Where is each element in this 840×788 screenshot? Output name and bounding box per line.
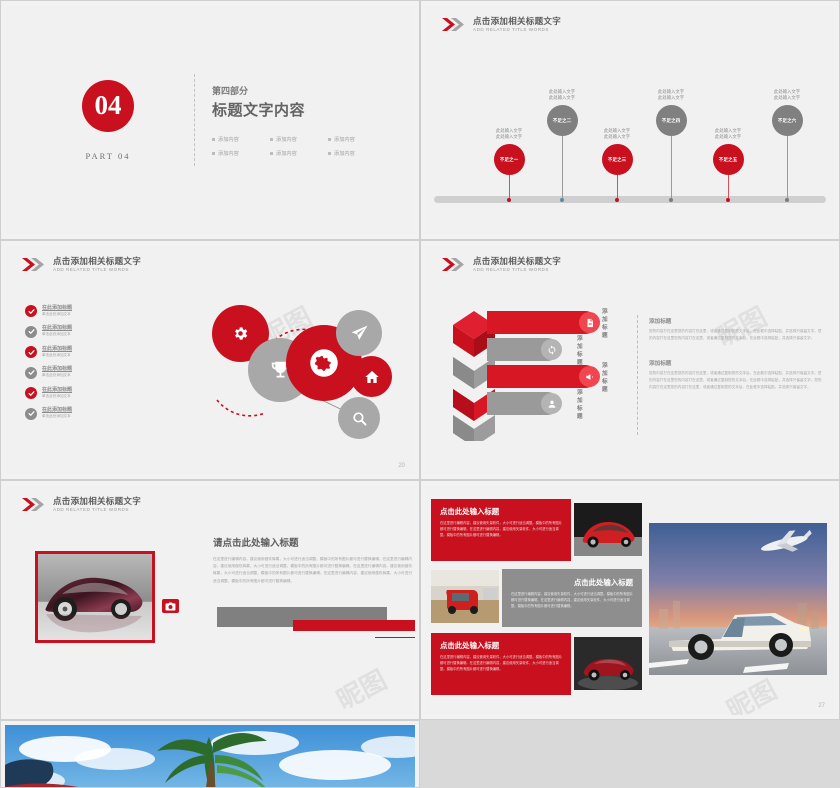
text-block: 添加标题 您的内容打在这里您的内容打在这里，或者通过复制您的文本后，在此框中选择… xyxy=(649,359,825,390)
send-icon xyxy=(350,324,369,343)
list-item-title: 在此添加标题 xyxy=(42,388,72,394)
text-block-list: 添加标题 您的内容打在这里您的内容打在这里，或者通过复制您的文本后，在此框中选择… xyxy=(649,317,825,408)
list-item-sub: 单击此处添加文本 xyxy=(42,313,72,317)
list-item-text: 在此添加标题单击此处添加文本 xyxy=(42,347,72,358)
slide-header-title-cn: 点击添加相关标题文字 xyxy=(53,257,141,266)
slide-header-title-en: ADD RELATED TITLE WORDS xyxy=(53,508,141,513)
list-item-sub: 单击此处添加文本 xyxy=(42,354,72,358)
slide-thumbnail-image-cards[interactable]: 昵图 点击此处输入标题 在这里进行编辑内容，建议使用矢量软件，大小可进行适当调整… xyxy=(420,480,840,720)
info-card-title: 点击此处输入标题 xyxy=(440,506,562,517)
slide-title: 请点击此处输入标题 xyxy=(213,535,415,549)
arrow-bar-label: 添加标题 xyxy=(577,334,583,366)
slide-header-text: 点击添加相关标题文字 ADD RELATED TITLE WORDS xyxy=(53,257,141,272)
list-item[interactable]: 添加内容 xyxy=(212,136,266,143)
text-block-heading: 添加标题 xyxy=(649,359,825,367)
section-number-block: 04 PART 04 xyxy=(38,80,178,161)
arrow-bar[interactable]: 添加标题 xyxy=(487,338,559,361)
slide-body: 在这里进行编辑内容，建议使用做玖辉果，大小可进行适当调整，模板中的所有图片都可进… xyxy=(213,556,415,585)
arrow-bar[interactable]: 添加标题 xyxy=(487,392,559,415)
document-icon xyxy=(579,312,600,333)
slide-thumbnail-grid: 04 PART 04 第四部分 标题文字内容 添加内容 添加内容 添加内容 添加… xyxy=(0,0,840,788)
slide-header-text: 点击添加相关标题文字 ADD RELATED TITLE WORDS xyxy=(473,257,561,272)
list-item[interactable]: 在此添加标题单击此处添加文本 xyxy=(25,367,72,379)
photo-palm-tree-blue-sky xyxy=(5,725,415,787)
slide-canvas: 点击添加相关标题文字 ADD RELATED TITLE WORDS 昵图 xyxy=(5,485,415,715)
timeline-caption-line: 此处输入文字 xyxy=(587,134,647,141)
square-bullet-icon xyxy=(270,138,273,141)
megaphone-icon xyxy=(579,366,600,387)
slide-header-title-cn: 点击添加相关标题文字 xyxy=(53,497,141,506)
list-item-text: 在此添加标题单击此处添加文本 xyxy=(42,306,72,317)
timeline-bubble[interactable]: 不足之三 xyxy=(602,144,633,175)
slide-thumbnail-partial-photo[interactable] xyxy=(0,720,420,788)
timeline-bubble[interactable]: 不足之二 xyxy=(547,105,578,136)
slide-header-text: 点击添加相关标题文字 ADD RELATED TITLE WORDS xyxy=(473,17,561,32)
page-number: 20 xyxy=(398,463,405,469)
red-accent-line xyxy=(375,637,415,638)
list-item-label: 添加内容 xyxy=(218,136,239,143)
slide-thumbnail-timeline[interactable]: 点击添加相关标题文字 ADD RELATED TITLE WORDS 不足之一 … xyxy=(420,0,840,240)
check-circle-icon xyxy=(25,305,37,317)
text-block-body: 您的内容打在这里您的内容打在这里，或者通过复制您的文本后，在此框中选择粘贴，并选… xyxy=(649,328,825,341)
list-item-text: 在此添加标题单击此处添加文本 xyxy=(42,326,72,337)
info-card-body: 在这里进行编辑内容，建议使用矢量软件，大小可进行适当调整。模板中的所有图片都可进… xyxy=(440,655,562,672)
list-item[interactable]: 在此添加标题单击此处添加文本 xyxy=(25,326,72,338)
list-item[interactable]: 在此添加标题单击此处添加文本 xyxy=(25,387,72,399)
slide-header: 点击添加相关标题文字 ADD RELATED TITLE WORDS xyxy=(22,497,141,512)
text-block-heading: 添加标题 xyxy=(649,317,825,325)
timeline-caption-line: 此处输入文字 xyxy=(757,95,817,102)
slide-canvas: 点击添加相关标题文字 ADD RELATED TITLE WORDS 昵图 在此… xyxy=(5,245,415,475)
bubble-search[interactable] xyxy=(338,397,380,439)
checklist: 在此添加标题单击此处添加文本 在此添加标题单击此处添加文本 在此添加标题单击此处… xyxy=(25,305,72,420)
timeline-caption: 此处输入文字 此处输入文字 xyxy=(587,128,647,141)
camera-icon[interactable] xyxy=(162,599,179,613)
square-bullet-icon xyxy=(328,152,331,155)
list-item-label: 添加内容 xyxy=(276,136,297,143)
bubble-home[interactable] xyxy=(351,356,392,397)
check-circle-icon xyxy=(25,387,37,399)
list-item[interactable]: 添加内容 xyxy=(270,150,324,157)
section-part-label: PART 04 xyxy=(86,151,131,161)
timeline-bubble[interactable]: 不足之五 xyxy=(713,144,744,175)
list-item-sub: 单击此处添加文本 xyxy=(42,415,72,419)
page-number: 27 xyxy=(818,703,825,709)
photo-frame-concept-car[interactable] xyxy=(35,551,155,643)
info-card[interactable]: 点击此处输入标题 在这里进行编辑内容，建议使用矢量软件，大小可进行适当调整。模板… xyxy=(502,569,642,627)
slide-canvas: 04 PART 04 第四部分 标题文字内容 添加内容 添加内容 添加内容 添加… xyxy=(5,5,415,235)
vertical-dashed-divider xyxy=(637,315,638,435)
home-icon xyxy=(364,369,380,385)
timeline-caption: 此处输入文字 此处输入文字 xyxy=(479,128,539,141)
double-chevron-icon xyxy=(22,258,48,271)
slide-thumbnail-checklist-bubbles[interactable]: 点击添加相关标题文字 ADD RELATED TITLE WORDS 昵图 在此… xyxy=(0,240,420,480)
arrow-bar[interactable]: 添加标题 xyxy=(487,311,597,334)
arrow-bar-label: 添加标题 xyxy=(602,361,608,393)
list-item-sub: 单击此处添加文本 xyxy=(42,333,72,337)
arrow-bar-list: 添加标题 添加标题 添加标题 添加标题 xyxy=(487,311,597,419)
gear-icon xyxy=(232,325,249,342)
list-item-title: 在此添加标题 xyxy=(42,367,72,373)
timeline-bubble[interactable]: 不足之一 xyxy=(494,144,525,175)
info-card-title: 点击此处输入标题 xyxy=(511,577,633,588)
timeline-caption-line: 此处输入文字 xyxy=(532,95,592,102)
slide-canvas: 点击添加相关标题文字 ADD RELATED TITLE WORDS 昵图 xyxy=(425,245,835,475)
slide-canvas: 点击添加相关标题文字 ADD RELATED TITLE WORDS 不足之一 … xyxy=(425,5,835,235)
timeline-caption: 此处输入文字 此处输入文字 xyxy=(698,128,758,141)
info-card-body: 在这里进行编辑内容，建议使用矢量软件，大小可进行适当调整。模板中的所有图片都可进… xyxy=(440,521,562,538)
list-item[interactable]: 添加内容 xyxy=(328,150,382,157)
slide-header-title-en: ADD RELATED TITLE WORDS xyxy=(473,28,561,33)
slide-canvas: 昵图 点击此处输入标题 在这里进行编辑内容，建议使用矢量软件，大小可进行适当调整… xyxy=(425,485,835,715)
timeline-stem xyxy=(562,131,563,200)
list-item[interactable]: 添加内容 xyxy=(212,150,266,157)
text-block: 添加标题 您的内容打在这里您的内容打在这里，或者通过复制您的文本后，在此框中选择… xyxy=(649,317,825,341)
double-chevron-icon xyxy=(442,18,468,31)
timeline-dot xyxy=(785,198,789,202)
slide-header-title-cn: 点击添加相关标题文字 xyxy=(473,257,561,266)
globe-icon xyxy=(309,348,339,378)
slide-thumbnail-stacked-arrows[interactable]: 点击添加相关标题文字 ADD RELATED TITLE WORDS 昵图 xyxy=(420,240,840,480)
section-number-badge: 04 xyxy=(82,80,134,132)
timeline-rail xyxy=(434,196,826,203)
timeline-dot xyxy=(669,198,673,202)
list-item-label: 添加内容 xyxy=(334,136,355,143)
arrow-bar[interactable]: 添加标题 xyxy=(487,365,597,388)
search-icon xyxy=(351,410,368,427)
slide-header-text: 点击添加相关标题文字 ADD RELATED TITLE WORDS xyxy=(53,497,141,512)
slide-header: 点击添加相关标题文字 ADD RELATED TITLE WORDS xyxy=(22,257,141,272)
list-item-sub: 单击此处添加文本 xyxy=(42,395,72,399)
timeline-bubble[interactable]: 不足之六 xyxy=(772,105,803,136)
red-placeholder-bar xyxy=(293,620,415,631)
watermark: 昵图 xyxy=(719,670,782,715)
slide-header-title-en: ADD RELATED TITLE WORDS xyxy=(53,268,141,273)
timeline-dot xyxy=(615,198,619,202)
text-panel: 请点击此处输入标题 在这里进行编辑内容，建议使用做玖辉果，大小可进行适当调整，模… xyxy=(213,535,415,585)
list-item-title: 在此添加标题 xyxy=(42,326,72,332)
list-item-sub: 单击此处添加文本 xyxy=(42,374,72,378)
square-bullet-icon xyxy=(212,152,215,155)
photo-white-suv-with-airplane[interactable] xyxy=(649,523,827,675)
list-item-title: 在此添加标题 xyxy=(42,347,72,353)
check-circle-icon xyxy=(25,408,37,420)
list-item[interactable]: 在此添加标题单击此处添加文本 xyxy=(25,305,72,317)
bubble-send[interactable] xyxy=(336,310,382,356)
slide-header-title-en: ADD RELATED TITLE WORDS xyxy=(473,268,561,273)
info-card-body: 在这里进行编辑内容，建议使用矢量软件，大小可进行适当调整。模板中的所有图片都可进… xyxy=(511,592,633,609)
double-chevron-icon xyxy=(442,258,468,271)
list-item-title: 在此添加标题 xyxy=(42,306,72,312)
list-item-label: 添加内容 xyxy=(276,150,297,157)
check-circle-icon xyxy=(25,367,37,379)
photo-red-hatchback-showroom[interactable] xyxy=(431,570,499,623)
photo-red-convertible[interactable] xyxy=(574,637,642,690)
timeline-caption: 此处输入文字 此处输入文字 xyxy=(641,89,701,102)
photo-red-sports-car[interactable] xyxy=(574,503,642,556)
timeline-bubble[interactable]: 不足之四 xyxy=(656,105,687,136)
timeline-caption-line: 此处输入文字 xyxy=(479,134,539,141)
section-title: 标题文字内容 xyxy=(212,99,382,120)
info-card[interactable]: 点击此处输入标题 在这里进行编辑内容，建议使用矢量软件，大小可进行适当调整。模板… xyxy=(431,499,571,561)
square-bullet-icon xyxy=(270,152,273,155)
list-item[interactable]: 在此添加标题单击此处添加文本 xyxy=(25,346,72,358)
slide-thumbnail-image-and-text[interactable]: 点击添加相关标题文字 ADD RELATED TITLE WORDS 昵图 xyxy=(0,480,420,720)
user-icon xyxy=(541,393,562,414)
watermark: 昵图 xyxy=(329,660,392,715)
info-card-title: 点击此处输入标题 xyxy=(440,640,562,651)
list-item-title: 在此添加标题 xyxy=(42,408,72,414)
timeline-caption-line: 此处输入文字 xyxy=(641,95,701,102)
square-bullet-icon xyxy=(328,138,331,141)
list-item[interactable]: 在此添加标题单击此处添加文本 xyxy=(25,408,72,420)
info-card[interactable]: 点击此处输入标题 在这里进行编辑内容，建议使用矢量软件，大小可进行适当调整。模板… xyxy=(431,633,571,695)
bubble-diagram xyxy=(155,305,405,445)
list-item[interactable]: 添加内容 xyxy=(270,136,324,143)
list-item-label: 添加内容 xyxy=(218,150,239,157)
arrow-bar-label: 添加标题 xyxy=(602,307,608,339)
timeline-dot xyxy=(560,198,564,202)
refresh-icon xyxy=(541,339,562,360)
text-block-body: 您的内容打在这里您的内容打在这里，或者通过复制您的文本后，在此框中选择粘贴，并选… xyxy=(649,370,825,390)
timeline-caption: 此处输入文字 此处输入文字 xyxy=(532,89,592,102)
check-circle-icon xyxy=(25,326,37,338)
slide-header: 点击添加相关标题文字 ADD RELATED TITLE WORDS xyxy=(442,17,561,32)
camera-glyph-icon xyxy=(165,602,176,611)
timeline-stem xyxy=(671,131,672,200)
section-item-list: 添加内容 添加内容 添加内容 添加内容 添加内容 添加内容 xyxy=(212,136,382,157)
slide-thumbnail-section-cover[interactable]: 04 PART 04 第四部分 标题文字内容 添加内容 添加内容 添加内容 添加… xyxy=(0,0,420,240)
list-item-label: 添加内容 xyxy=(334,150,355,157)
timeline-caption-line: 此处输入文字 xyxy=(698,134,758,141)
concept-car-photo xyxy=(38,554,152,640)
arrow-bar-label: 添加标题 xyxy=(577,388,583,420)
list-item[interactable]: 添加内容 xyxy=(328,136,382,143)
slide-header: 点击添加相关标题文字 ADD RELATED TITLE WORDS xyxy=(442,257,561,272)
empty-grid-cell xyxy=(420,720,840,788)
section-subtitle: 第四部分 xyxy=(212,84,382,97)
slide-canvas xyxy=(5,725,415,787)
section-cover-layout: 04 PART 04 第四部分 标题文字内容 添加内容 添加内容 添加内容 添加… xyxy=(5,5,415,235)
square-bullet-icon xyxy=(212,138,215,141)
timeline-stem xyxy=(787,131,788,200)
list-item-text: 在此添加标题单击此处添加文本 xyxy=(42,367,72,378)
slide-header-title-cn: 点击添加相关标题文字 xyxy=(473,17,561,26)
check-circle-icon xyxy=(25,346,37,358)
double-chevron-icon xyxy=(22,498,48,511)
list-item-text: 在此添加标题单击此处添加文本 xyxy=(42,388,72,399)
section-title-block: 第四部分 标题文字内容 添加内容 添加内容 添加内容 添加内容 添加内容 添加内… xyxy=(212,84,382,157)
timeline-dot xyxy=(507,198,511,202)
timeline-caption: 此处输入文字 此处输入文字 xyxy=(757,89,817,102)
timeline-dot xyxy=(726,198,730,202)
list-item-text: 在此添加标题单击此处添加文本 xyxy=(42,408,72,419)
vertical-dashed-divider xyxy=(194,74,196,166)
